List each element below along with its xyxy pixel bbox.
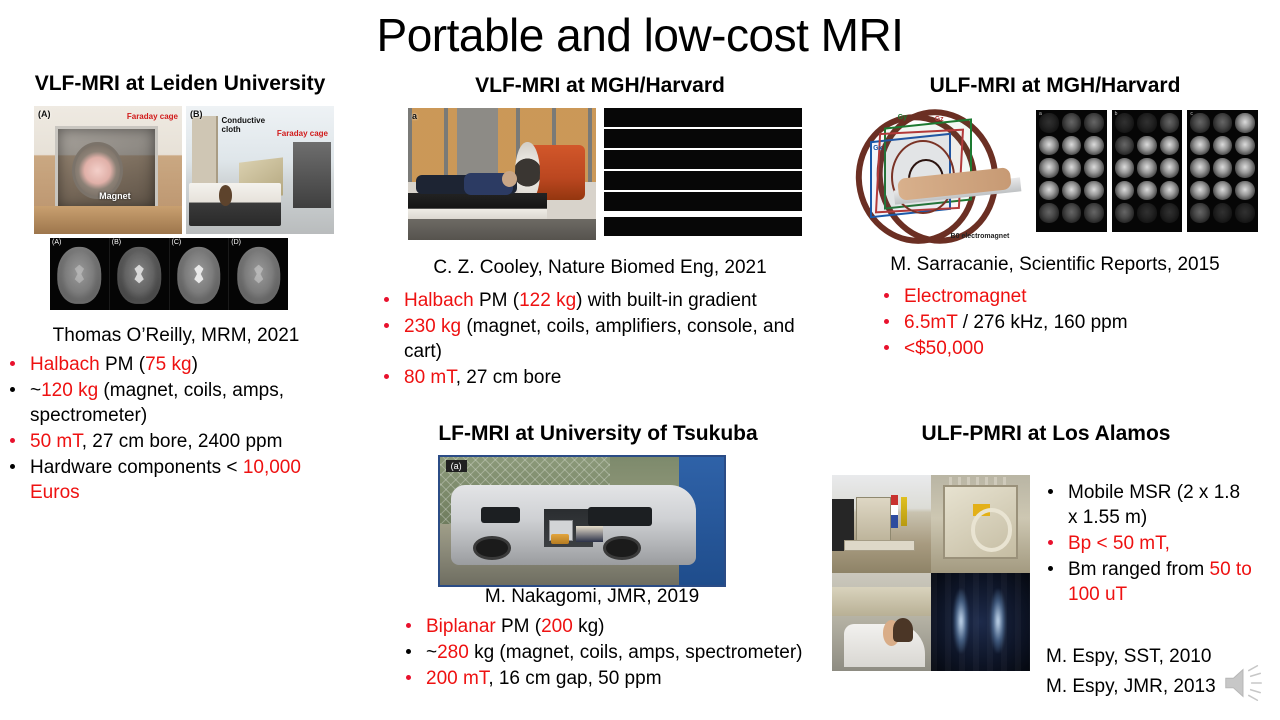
- bullet-dot: [406, 675, 411, 680]
- scan-panel-b: b: [1112, 110, 1183, 232]
- bullet-dot: [384, 374, 389, 379]
- bullet-text: kg (magnet, coils, amps, spectrometer): [469, 642, 803, 663]
- citation-cooley: C. Z. Cooley, Nature Biomed Eng, 2021: [380, 256, 820, 280]
- van-window-rear: [588, 507, 652, 526]
- tsukuba-van-photo: (a): [438, 455, 726, 587]
- bullet-text: , 16 cm gap, 50 ppm: [488, 668, 661, 689]
- leiden-photo-a: (A) Faraday cage Magnet: [34, 106, 182, 234]
- bullet-list-cooley: Halbach PM (122 kg) with built-in gradie…: [378, 288, 828, 391]
- patient-head-shape: [219, 185, 232, 205]
- bullet-text: PM (: [100, 354, 145, 375]
- list-item: Halbach PM (75 kg): [4, 352, 354, 377]
- slice-label-d: (D): [231, 239, 241, 246]
- bullet-dot: [10, 464, 15, 469]
- magnet-unit: [551, 534, 568, 544]
- faraday-cage-label: Faraday cage: [127, 112, 178, 121]
- bullet-dot: [1048, 489, 1053, 494]
- slice-label-a: (A): [52, 239, 61, 246]
- table-surface: [34, 206, 182, 234]
- bullet-text: Bm ranged from: [1068, 559, 1210, 580]
- panel-label-a: (A): [38, 109, 51, 119]
- patient-table-shape: [408, 193, 547, 219]
- citation-leiden: Thomas O’Reilly, MRM, 2021: [0, 324, 352, 348]
- slice-row: [604, 129, 802, 148]
- bullet-dot: [1048, 566, 1053, 571]
- bullet-text: <$50,000: [904, 338, 984, 359]
- bullet-text: 122 kg: [519, 290, 576, 311]
- bullet-text: 280: [437, 642, 469, 663]
- list-item: Biplanar PM (200 kg): [400, 614, 820, 639]
- section-heading-tsukuba: LF-MRI at University of Tsukuba: [378, 422, 818, 446]
- bullet-dot: [884, 345, 889, 350]
- bullet-dot: [384, 297, 389, 302]
- electromagnet-label: B0 electromagnet: [951, 233, 1010, 240]
- cooley-photo: a: [408, 108, 596, 240]
- bullet-list-tsukuba: Biplanar PM (200 kg) ~280 kg (magnet, co…: [400, 614, 820, 692]
- cooley-slice-grid: [604, 108, 802, 240]
- bullet-dot: [406, 649, 411, 654]
- slide-canvas: Portable and low-cost MRI VLF-MRI at Lei…: [0, 0, 1280, 720]
- gx-label: Gx: [873, 145, 882, 152]
- brain-slice: (C): [170, 238, 230, 310]
- bullet-text: 6.5mT: [904, 312, 958, 333]
- losalamos-photo-collage: [832, 475, 1030, 671]
- bullet-dot: [884, 293, 889, 298]
- equipment-rack-shape: [293, 142, 331, 209]
- leiden-photo-b: (B) Conductive cloth Faraday cage: [186, 106, 334, 234]
- scan-panel-a: a: [1036, 110, 1107, 232]
- brain-slice: (B): [110, 238, 170, 310]
- list-item: Bm ranged from 50 to 100 uT: [1042, 557, 1252, 607]
- bullet-list-losalamos: Mobile MSR (2 x 1.8 x 1.55 m) Bp < 50 mT…: [1042, 480, 1252, 608]
- list-item: Hardware components < 10,000 Euros: [4, 455, 354, 505]
- list-item: 6.5mT / 276 kHz, 160 ppm: [878, 310, 1268, 335]
- panel-label-a: a: [412, 111, 417, 121]
- bullet-text: 230 kg: [404, 316, 461, 337]
- van-body-shape: [451, 485, 695, 564]
- magnet-label: Magnet: [99, 191, 131, 201]
- panel-label-c: c: [1190, 111, 1193, 117]
- bullet-dot: [10, 361, 15, 366]
- slice-row: [604, 108, 802, 127]
- bullet-text: , 27 cm bore: [456, 367, 562, 388]
- bullet-text: Biplanar: [426, 616, 496, 637]
- sarracanie-coil-diagram: Gy Gz Gx B0 electromagnet: [852, 106, 1028, 246]
- bullet-text: 75 kg: [145, 354, 191, 375]
- mobile-msr-lab-photo: [832, 475, 931, 573]
- slice-label-b: (B): [112, 239, 121, 246]
- sarracanie-scan-panels: a b c: [1036, 110, 1258, 232]
- bullet-text: PM (: [474, 290, 519, 311]
- bullet-text: PM (: [496, 616, 541, 637]
- gz-label: Gz: [935, 116, 944, 123]
- bullet-dot: [10, 387, 15, 392]
- bullet-text: Hardware components <: [30, 457, 243, 478]
- section-heading-losalamos: ULF-PMRI at Los Alamos: [846, 422, 1246, 446]
- section-heading-sarracanie: ULF-MRI at MGH/Harvard: [850, 74, 1260, 98]
- bullet-dot: [384, 323, 389, 328]
- list-item: <$50,000: [878, 336, 1268, 361]
- scan-panel-c: c: [1187, 110, 1258, 232]
- section-heading-cooley: VLF-MRI at MGH/Harvard: [400, 74, 800, 98]
- bullet-text: Electromagnet: [904, 286, 1027, 307]
- bullet-text: (magnet, coils, amplifiers, console, and…: [404, 316, 795, 362]
- bullet-text: , 27 cm bore, 2400 ppm: [82, 431, 283, 452]
- van-window-front: [481, 507, 520, 523]
- bullet-list-leiden: Halbach PM (75 kg) ~120 kg (magnet, coil…: [4, 352, 354, 506]
- panel-label-a: a: [1039, 111, 1042, 117]
- list-item: ~120 kg (magnet, coils, amps, spectromet…: [4, 378, 354, 428]
- conductive-cloth-label: Conductive cloth: [222, 116, 276, 134]
- bullet-dot: [1048, 540, 1053, 545]
- bullet-text: Bp < 50 mT,: [1068, 533, 1170, 554]
- list-item: Mobile MSR (2 x 1.8 x 1.55 m): [1042, 480, 1252, 530]
- van-wheel-front: [473, 536, 511, 559]
- panel-label-a: (a): [446, 460, 467, 472]
- patient-bed-shape: [189, 183, 281, 227]
- citation-sarracanie: M. Sarracanie, Scientific Reports, 2015: [845, 253, 1265, 277]
- list-item: 230 kg (magnet, coils, amplifiers, conso…: [378, 314, 828, 364]
- brain-slice: (D): [229, 238, 288, 310]
- floor-shape: [408, 219, 596, 240]
- list-item: 80 mT, 27 cm bore: [378, 365, 828, 390]
- gy-label: Gy: [898, 114, 907, 121]
- slice-row: [604, 217, 802, 236]
- brain-slice: (A): [50, 238, 110, 310]
- slice-row: [604, 150, 802, 169]
- citation-tsukuba: M. Nakagomi, JMR, 2019: [372, 585, 812, 609]
- list-item: 50 mT, 27 cm bore, 2400 ppm: [4, 429, 354, 454]
- page-title: Portable and low-cost MRI: [0, 6, 1280, 64]
- bullet-text: kg): [573, 616, 605, 637]
- scanner-apparatus-photo: [931, 475, 1030, 573]
- bullet-text: 50 mT: [30, 431, 82, 452]
- list-item: Bp < 50 mT,: [1042, 531, 1252, 556]
- van-seat: [576, 526, 603, 542]
- slice-row: [604, 171, 802, 190]
- list-item: 200 mT, 16 cm gap, 50 ppm: [400, 666, 820, 691]
- bullet-text: Halbach: [30, 354, 100, 375]
- panel-label-b: b: [1115, 111, 1118, 117]
- bullet-text: / 276 kHz, 160 ppm: [958, 312, 1128, 333]
- list-item: ~280 kg (magnet, coils, amps, spectromet…: [400, 640, 820, 665]
- list-item: Electromagnet: [878, 284, 1268, 309]
- bullet-text: ): [192, 354, 198, 375]
- slice-label-c: (C): [172, 239, 182, 246]
- van-wheel-rear: [603, 536, 641, 559]
- leiden-brain-slices: (A) (B) (C) (D): [50, 238, 288, 310]
- wall-panel-shape: [457, 108, 498, 182]
- section-heading-leiden: VLF-MRI at Leiden University: [0, 72, 360, 96]
- slice-row: [604, 192, 802, 211]
- subject-in-scanner-photo: [832, 573, 931, 671]
- bullet-text: ) with built-in gradient: [576, 290, 757, 311]
- bullet-text: Mobile MSR (2 x 1.8 x 1.55 m): [1068, 482, 1240, 528]
- bullet-text: 200: [541, 616, 573, 637]
- bullet-text: 80 mT: [404, 367, 456, 388]
- bullet-list-sarracanie: Electromagnet 6.5mT / 276 kHz, 160 ppm <…: [878, 284, 1268, 362]
- bullet-text: 120 kg: [41, 380, 98, 401]
- bullet-text: 200 mT: [426, 668, 488, 689]
- room-door-shape: [192, 116, 218, 188]
- faraday-cage-label-b: Faraday cage: [277, 129, 328, 138]
- bullet-dot: [884, 319, 889, 324]
- bullet-text: ~: [426, 642, 437, 663]
- bullet-text: Halbach: [404, 290, 474, 311]
- ulf-mri-scan-image: [931, 573, 1030, 671]
- bullet-text: ~: [30, 380, 41, 401]
- bullet-dot: [10, 438, 15, 443]
- bullet-dot: [406, 623, 411, 628]
- speaker-icon[interactable]: [1220, 660, 1266, 706]
- list-item: Halbach PM (122 kg) with built-in gradie…: [378, 288, 828, 313]
- panel-label-b: (B): [190, 109, 203, 119]
